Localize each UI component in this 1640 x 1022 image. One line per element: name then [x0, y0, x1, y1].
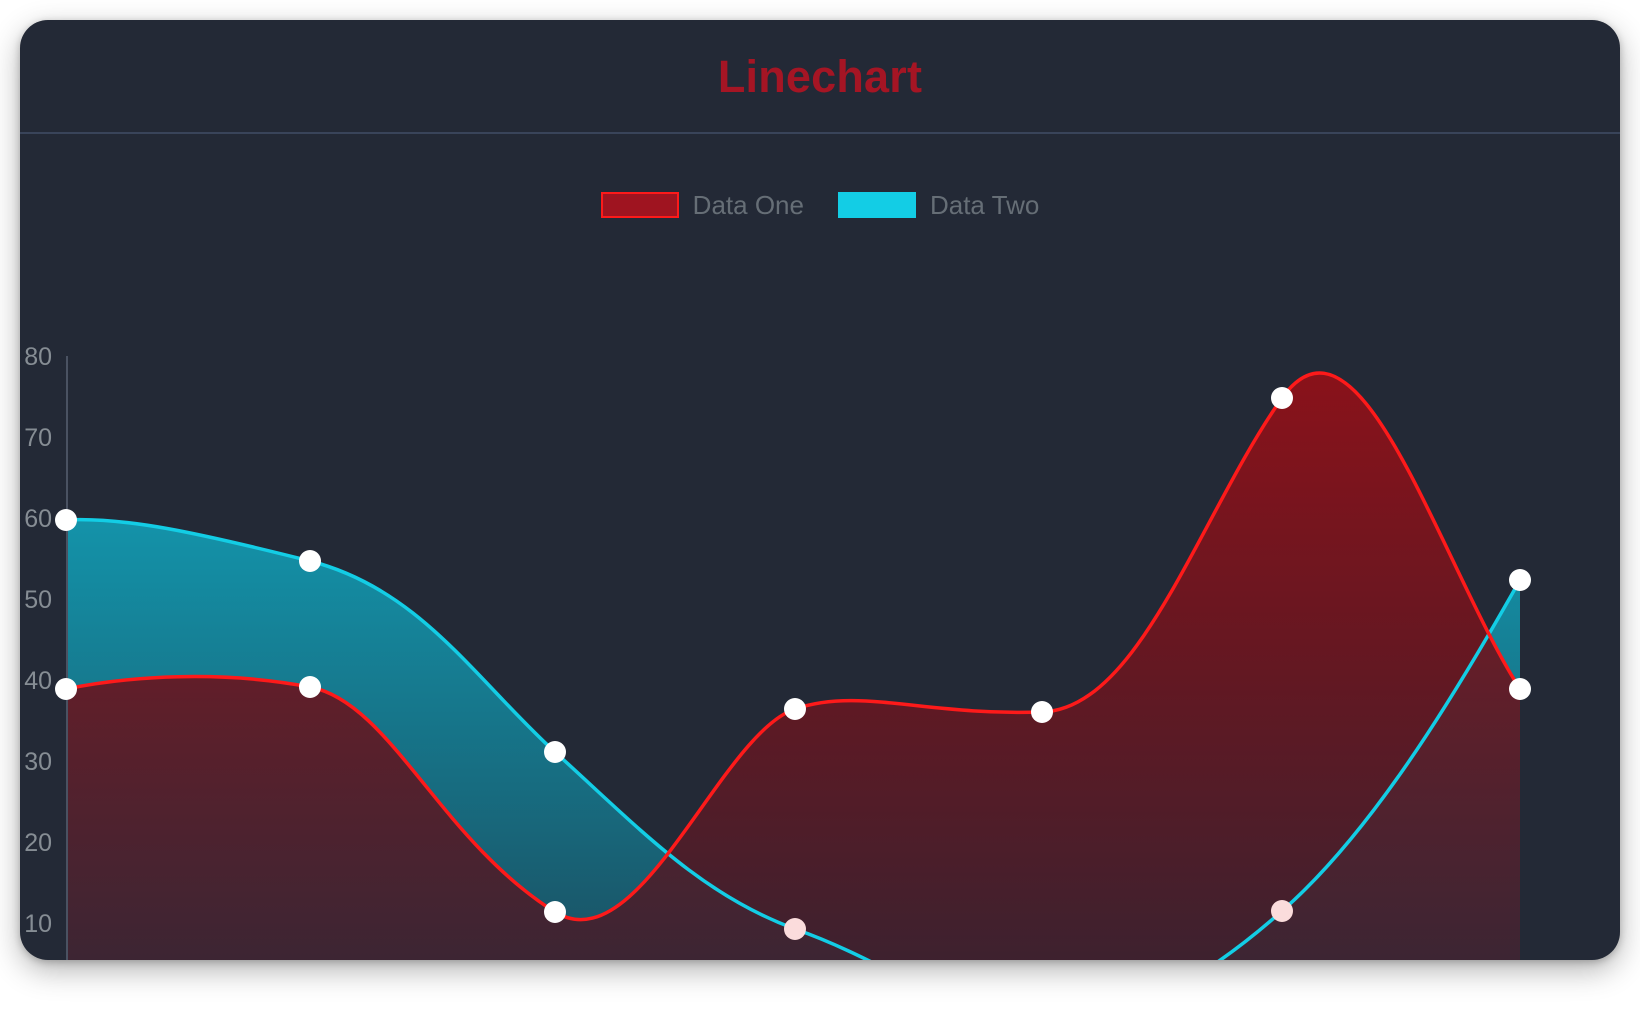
- chart-legend: Data One Data Two: [20, 192, 1620, 218]
- card-header: Linechart: [20, 20, 1620, 134]
- data-point[interactable]: [55, 678, 77, 700]
- data-point[interactable]: [1271, 387, 1293, 409]
- legend-label-data-two: Data Two: [930, 192, 1039, 218]
- legend-swatch-data-one: [601, 192, 679, 218]
- y-axis-ticks: 80 70 60 50 40 30 20 10 0: [24, 343, 52, 960]
- data-point[interactable]: [1509, 569, 1531, 591]
- legend-swatch-data-two: [838, 192, 916, 218]
- linechart-card: Linechart: [20, 20, 1620, 960]
- data-point[interactable]: [544, 741, 566, 763]
- y-tick-label: 10: [24, 910, 52, 938]
- linechart-svg: 80 70 60 50 40 30 20 10 0 January Februa…: [20, 134, 1620, 960]
- card-body: 80 70 60 50 40 30 20 10 0 January Februa…: [20, 134, 1620, 960]
- data-point[interactable]: [1271, 900, 1293, 922]
- legend-item-data-two[interactable]: Data Two: [838, 192, 1039, 218]
- legend-item-data-one[interactable]: Data One: [601, 192, 804, 218]
- y-tick-label: 30: [24, 748, 52, 776]
- y-tick-label: 50: [24, 586, 52, 614]
- app-root: Linechart: [0, 0, 1640, 1022]
- data-point[interactable]: [299, 550, 321, 572]
- data-point[interactable]: [1509, 678, 1531, 700]
- chart-container: 80 70 60 50 40 30 20 10 0 January Februa…: [20, 134, 1620, 960]
- page-title: Linechart: [718, 54, 922, 99]
- data-point[interactable]: [784, 698, 806, 720]
- y-tick-label: 70: [24, 424, 52, 452]
- y-tick-label: 60: [24, 505, 52, 533]
- data-point[interactable]: [544, 901, 566, 923]
- data-point[interactable]: [784, 918, 806, 940]
- y-tick-label: 80: [24, 343, 52, 371]
- data-point[interactable]: [1031, 701, 1053, 723]
- y-tick-label: 40: [24, 667, 52, 695]
- legend-label-data-one: Data One: [693, 192, 804, 218]
- y-tick-label: 20: [24, 829, 52, 857]
- data-point[interactable]: [55, 509, 77, 531]
- data-point[interactable]: [299, 676, 321, 698]
